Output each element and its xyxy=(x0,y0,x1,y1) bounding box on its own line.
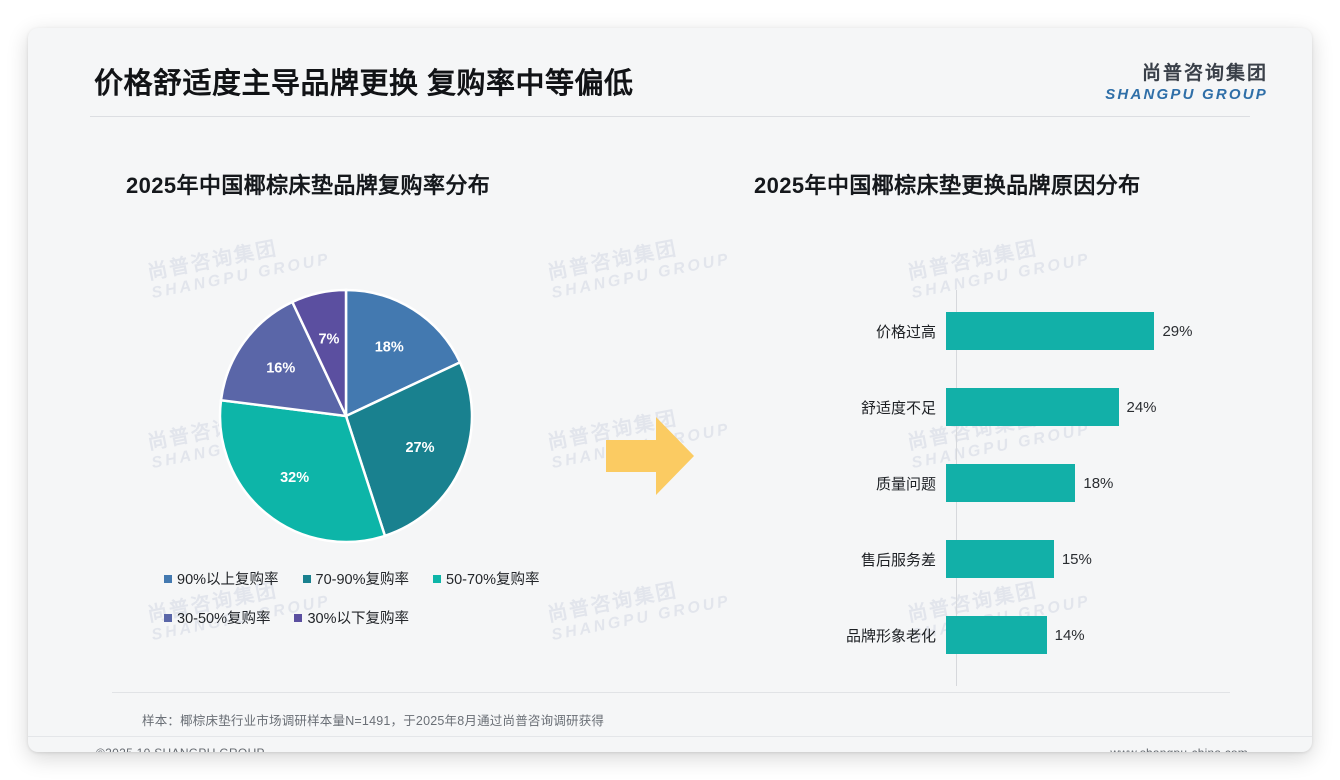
company-logo: 尚普咨询集团 SHANGPU GROUP xyxy=(1105,58,1268,103)
bar-track: 29% xyxy=(946,312,1258,350)
pie-chart-svg: 18%27%32%16%7% xyxy=(216,286,476,546)
legend-item[interactable]: 90%以上复购率 xyxy=(164,568,279,589)
bar-category-label: 舒适度不足 xyxy=(818,397,946,418)
bar-chart: 价格过高29%舒适度不足24%质量问题18%售后服务差15%品牌形象老化14% xyxy=(818,290,1258,686)
logo-text-cn: 尚普咨询集团 xyxy=(1105,58,1268,85)
bar-track: 24% xyxy=(946,388,1258,426)
bar-value-label: 24% xyxy=(1127,399,1157,416)
pie-slice-label: 32% xyxy=(280,470,309,486)
bar-fill[interactable] xyxy=(946,312,1154,350)
bar-row[interactable]: 售后服务差15% xyxy=(818,540,1258,578)
slide-header: 价格舒适度主导品牌更换 复购率中等偏低 尚普咨询集团 SHANGPU GROUP xyxy=(28,28,1312,120)
watermark-cn: 尚普咨询集团 xyxy=(146,229,329,285)
footnote-divider xyxy=(112,692,1230,693)
bar-fill[interactable] xyxy=(946,464,1075,502)
bar-track: 18% xyxy=(946,464,1258,502)
watermark-cn: 尚普咨询集团 xyxy=(546,229,729,285)
pie-slice-label: 16% xyxy=(266,360,295,376)
legend-row: 90%以上复购率70-90%复购率50-70%复购率 xyxy=(164,568,594,589)
slide-canvas: 尚普咨询集团 SHANGPU GROUP 尚普咨询集团 SHANGPU GROU… xyxy=(28,28,1312,752)
watermark-cn: 尚普咨询集团 xyxy=(906,229,1089,285)
bar-fill[interactable] xyxy=(946,616,1047,654)
legend-row: 30-50%复购率30%以下复购率 xyxy=(164,607,594,628)
legend-label: 30%以下复购率 xyxy=(307,607,409,628)
bar-row[interactable]: 价格过高29% xyxy=(818,312,1258,350)
legend-swatch xyxy=(164,614,172,622)
watermark-en: SHANGPU GROUP xyxy=(550,250,732,302)
legend-item[interactable]: 30-50%复购率 xyxy=(164,607,270,628)
bar-track: 14% xyxy=(946,616,1258,654)
legend-label: 50-70%复购率 xyxy=(446,568,539,589)
bar-row[interactable]: 质量问题18% xyxy=(818,464,1258,502)
bar-category-label: 价格过高 xyxy=(818,321,946,342)
footer-divider xyxy=(28,736,1312,737)
watermark: 尚普咨询集团 SHANGPU GROUP xyxy=(546,229,732,302)
bar-fill[interactable] xyxy=(946,540,1054,578)
legend-label: 90%以上复购率 xyxy=(177,568,279,589)
bar-fill[interactable] xyxy=(946,388,1119,426)
legend-item[interactable]: 70-90%复购率 xyxy=(303,568,409,589)
right-arrow-svg xyxy=(604,413,696,499)
logo-text-en: SHANGPU GROUP xyxy=(1105,86,1268,103)
legend-item[interactable]: 30%以下复购率 xyxy=(294,607,409,628)
bar-value-label: 29% xyxy=(1162,323,1192,340)
legend-label: 30-50%复购率 xyxy=(177,607,270,628)
pie-slice-label: 27% xyxy=(405,440,434,456)
legend-swatch xyxy=(303,575,311,583)
page-title: 价格舒适度主导品牌更换 复购率中等偏低 xyxy=(94,60,634,102)
pie-slice-label: 7% xyxy=(318,332,339,348)
pie-chart: 18%27%32%16%7% xyxy=(216,286,476,546)
bar-value-label: 14% xyxy=(1055,627,1085,644)
bar-category-label: 质量问题 xyxy=(818,473,946,494)
bar-category-label: 品牌形象老化 xyxy=(818,625,946,646)
website-link[interactable]: www.shangpu-china.com xyxy=(1110,746,1248,752)
pie-chart-title: 2025年中国椰棕床垫品牌复购率分布 xyxy=(126,168,490,200)
bar-value-label: 15% xyxy=(1062,551,1092,568)
legend-swatch xyxy=(164,575,172,583)
bar-value-label: 18% xyxy=(1083,475,1113,492)
bar-category-label: 售后服务差 xyxy=(818,549,946,570)
legend-label: 70-90%复购率 xyxy=(316,568,409,589)
pie-slice-label: 18% xyxy=(375,340,404,356)
legend-item[interactable]: 50-70%复购率 xyxy=(433,568,539,589)
bar-chart-title: 2025年中国椰棕床垫更换品牌原因分布 xyxy=(754,168,1141,200)
legend-swatch xyxy=(294,614,302,622)
bar-row[interactable]: 品牌形象老化14% xyxy=(818,616,1258,654)
header-divider xyxy=(90,116,1250,117)
footnote-text: 样本：椰棕床垫行业市场调研样本量N=1491，于2025年8月通过尚普咨询调研获… xyxy=(142,710,604,729)
bar-track: 15% xyxy=(946,540,1258,578)
bar-row[interactable]: 舒适度不足24% xyxy=(818,388,1258,426)
legend-swatch xyxy=(433,575,441,583)
copyright-text: ©2025.10 SHANGPU GROUP xyxy=(96,746,265,752)
pie-chart-legend: 90%以上复购率70-90%复购率50-70%复购率30-50%复购率30%以下… xyxy=(164,568,594,646)
right-arrow-icon xyxy=(604,413,696,504)
